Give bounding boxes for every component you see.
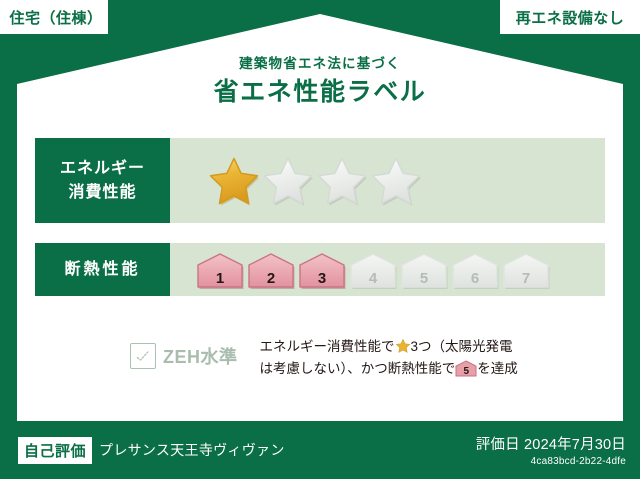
grade-number: 2	[246, 271, 296, 286]
zeh-desc-stars: 3つ（太陽光発電	[411, 339, 513, 354]
self-evaluation-badge: 自己評価	[18, 437, 92, 464]
energy-label-line1: エネルギー	[60, 157, 145, 180]
footer-right-group: 評価日 2024年7月30日 4ca83bcd-2b22-4dfe	[476, 433, 626, 467]
energy-performance-row: エネルギー 消費性能	[35, 138, 605, 223]
zeh-description: エネルギー消費性能で 3つ（太陽光発電 は考慮しない）、かつ断熱性能で 5を達成	[248, 336, 518, 381]
page-title: 省エネ性能ラベル	[0, 77, 640, 108]
grade-scale: 1234567	[195, 250, 551, 290]
tag-dwelling-type: 住宅（住棟）	[0, 0, 108, 34]
insulation-performance-row: 断熱性能 1234567	[35, 243, 605, 296]
evaluation-date: 評価日 2024年7月30日	[476, 433, 626, 454]
grade-number: 3	[297, 271, 347, 286]
building-name: プレサンス天王寺ヴィヴァン	[99, 440, 285, 460]
energy-performance-label: エネルギー 消費性能	[35, 138, 170, 223]
label-title-block: 建築物省エネ法に基づく 省エネ性能ラベル	[0, 56, 640, 108]
star-filled-icon	[208, 155, 260, 207]
title-subtitle: 建築物省エネ法に基づく	[0, 56, 640, 72]
grade-badge-inactive: 6	[450, 250, 500, 290]
tag-renewable-equipment: 再エネ設備なし	[500, 0, 640, 34]
zeh-desc-part1: エネルギー消費性能で	[260, 339, 395, 354]
footer-left-group: 自己評価 プレサンス天王寺ヴィヴァン	[18, 437, 285, 464]
zeh-chip: ZEH水準	[130, 336, 238, 369]
star-empty-icon	[316, 155, 368, 207]
zeh-desc-part2: は考慮しない）、かつ断熱性能で	[260, 361, 456, 376]
energy-label-line2: 消費性能	[68, 181, 136, 204]
grade-number: 5	[399, 271, 449, 286]
star-empty-icon	[262, 155, 314, 207]
grade-number: 1	[195, 271, 245, 286]
zeh-desc-part3: を達成	[477, 361, 518, 376]
grade-number: 6	[450, 271, 500, 286]
insulation-rating-grades: 1234567	[170, 243, 605, 296]
energy-performance-label: 住宅（住棟） 再エネ設備なし 建築物省エネ法に基づく 省エネ性能ラベル エネルギ…	[0, 0, 640, 479]
inline-grade-badge: 5	[455, 360, 477, 377]
zeh-checkbox-icon	[130, 343, 156, 369]
grade-badge-active: 1	[195, 250, 245, 290]
grade-number: 7	[501, 271, 551, 286]
star-rating	[208, 155, 422, 207]
grade-badge-inactive: 5	[399, 250, 449, 290]
grade-badge-inactive: 4	[348, 250, 398, 290]
zeh-standard-block: ZEH水準 エネルギー消費性能で 3つ（太陽光発電 は考慮しない）、かつ断熱性能…	[130, 336, 518, 381]
insulation-performance-label: 断熱性能	[35, 243, 170, 296]
evaluation-id: 4ca83bcd-2b22-4dfe	[476, 456, 626, 467]
inline-grade-number: 5	[455, 367, 477, 377]
grade-number: 4	[348, 271, 398, 286]
inline-star-icon	[395, 338, 411, 354]
label-footer: 自己評価 プレサンス天王寺ヴィヴァン 評価日 2024年7月30日 4ca83b…	[0, 421, 640, 479]
grade-badge-active: 2	[246, 250, 296, 290]
grade-badge-active: 3	[297, 250, 347, 290]
zeh-label: ZEH水準	[163, 343, 238, 369]
star-empty-icon	[370, 155, 422, 207]
grade-badge-inactive: 7	[501, 250, 551, 290]
energy-rating-stars	[170, 138, 605, 223]
